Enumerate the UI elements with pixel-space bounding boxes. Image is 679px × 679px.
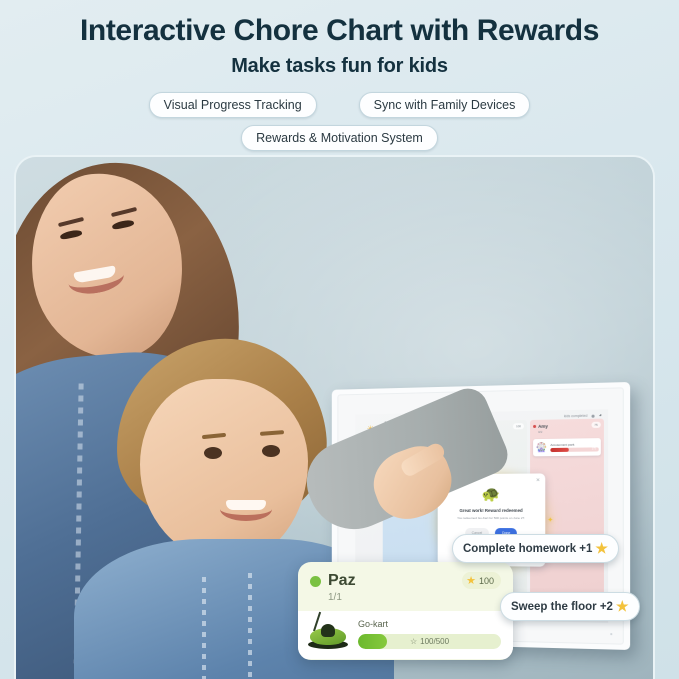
kid-badge-amy: 75: [591, 422, 601, 428]
reward-info-amy: Amusement park 175: [550, 442, 598, 453]
paz-star-points: 100: [479, 576, 494, 586]
star-icon: ★: [595, 540, 608, 557]
page-header: Interactive Chore Chart with Rewards Mak…: [0, 0, 679, 151]
boy-face: [140, 379, 308, 561]
callout-label-sweep: Sweep the floor +2: [511, 601, 613, 613]
paz-reward-row: Go-kart ☆ 100/500: [298, 611, 513, 659]
status-dot-icon: [591, 414, 594, 417]
callout-label-homework: Complete homework +1: [463, 543, 592, 555]
boy-teeth: [226, 500, 266, 510]
gokart-seat: [321, 624, 335, 637]
close-icon[interactable]: ✕: [536, 478, 540, 484]
status-bar-text: kids completed: [564, 414, 587, 419]
reward-progress-fill-amy: [550, 448, 568, 453]
boy-eye-right: [262, 445, 280, 457]
power-indicator: [610, 633, 612, 635]
reward-progress-text-amy: 175: [592, 447, 596, 452]
kid-badge-paz: 100: [513, 423, 524, 429]
star-outline-icon: ☆: [410, 637, 417, 646]
paz-progress-text: 100/500: [420, 637, 449, 646]
page-title: Interactive Chore Chart with Rewards: [0, 14, 679, 47]
boy-eye-left: [204, 447, 222, 459]
modal-description: You redeemed Go-Kart for 500 points on J…: [445, 516, 539, 521]
reward-card-amy[interactable]: 🎡 Amusement park 175: [533, 438, 601, 456]
paz-star-badge: ★ 100: [462, 572, 501, 589]
callout-sweep-floor[interactable]: Sweep the floor +2 ★: [500, 592, 640, 621]
page-subtitle: Make tasks fun for kids: [0, 55, 679, 78]
paz-progress-section: Go-kart ☆ 100/500: [358, 619, 501, 649]
denim-seam-left: [202, 577, 206, 679]
paz-status-dot: [310, 576, 321, 587]
paz-name: Paz: [328, 572, 356, 590]
feature-chip-visual-progress[interactable]: Visual Progress Tracking: [149, 92, 317, 118]
reward-progress-bar-amy: 175: [550, 447, 598, 452]
star-icon: ★: [616, 598, 629, 615]
kid-name-amy: Amy: [538, 424, 548, 429]
reward-title-amy: Amusement park: [550, 442, 598, 447]
paz-card-header: ★ 100 Paz 1/1: [298, 562, 513, 609]
paz-progress-bar: ☆ 100/500: [358, 634, 501, 649]
paz-summary-card[interactable]: ★ 100 Paz 1/1 Go-kart ☆: [298, 562, 513, 660]
feature-chip-row-1: Visual Progress Tracking Sync with Famil…: [0, 92, 679, 118]
feature-chip-sync-devices[interactable]: Sync with Family Devices: [359, 92, 531, 118]
paz-task-fraction: 1/1: [328, 592, 501, 603]
feature-chip-rewards-motivation[interactable]: Rewards & Motivation System: [241, 125, 438, 151]
star-icon: ★: [466, 574, 476, 587]
gokart-icon: [308, 617, 350, 649]
gokart-icon: 🐢: [445, 487, 539, 502]
denim-seam-right: [248, 573, 252, 679]
modal-title: Great work! Reward redeemed: [445, 508, 539, 513]
feature-chip-row-2: Rewards & Motivation System: [0, 125, 679, 151]
paz-progress-label: ☆ 100/500: [358, 634, 501, 649]
paz-reward-title: Go-kart: [358, 619, 501, 629]
kid-status-dot-amy: [533, 425, 536, 428]
kid-progress-amy: 0/2: [538, 429, 601, 434]
ferriswheel-icon: 🎡: [536, 441, 548, 453]
callout-complete-homework[interactable]: Complete homework +1 ★: [452, 534, 619, 563]
